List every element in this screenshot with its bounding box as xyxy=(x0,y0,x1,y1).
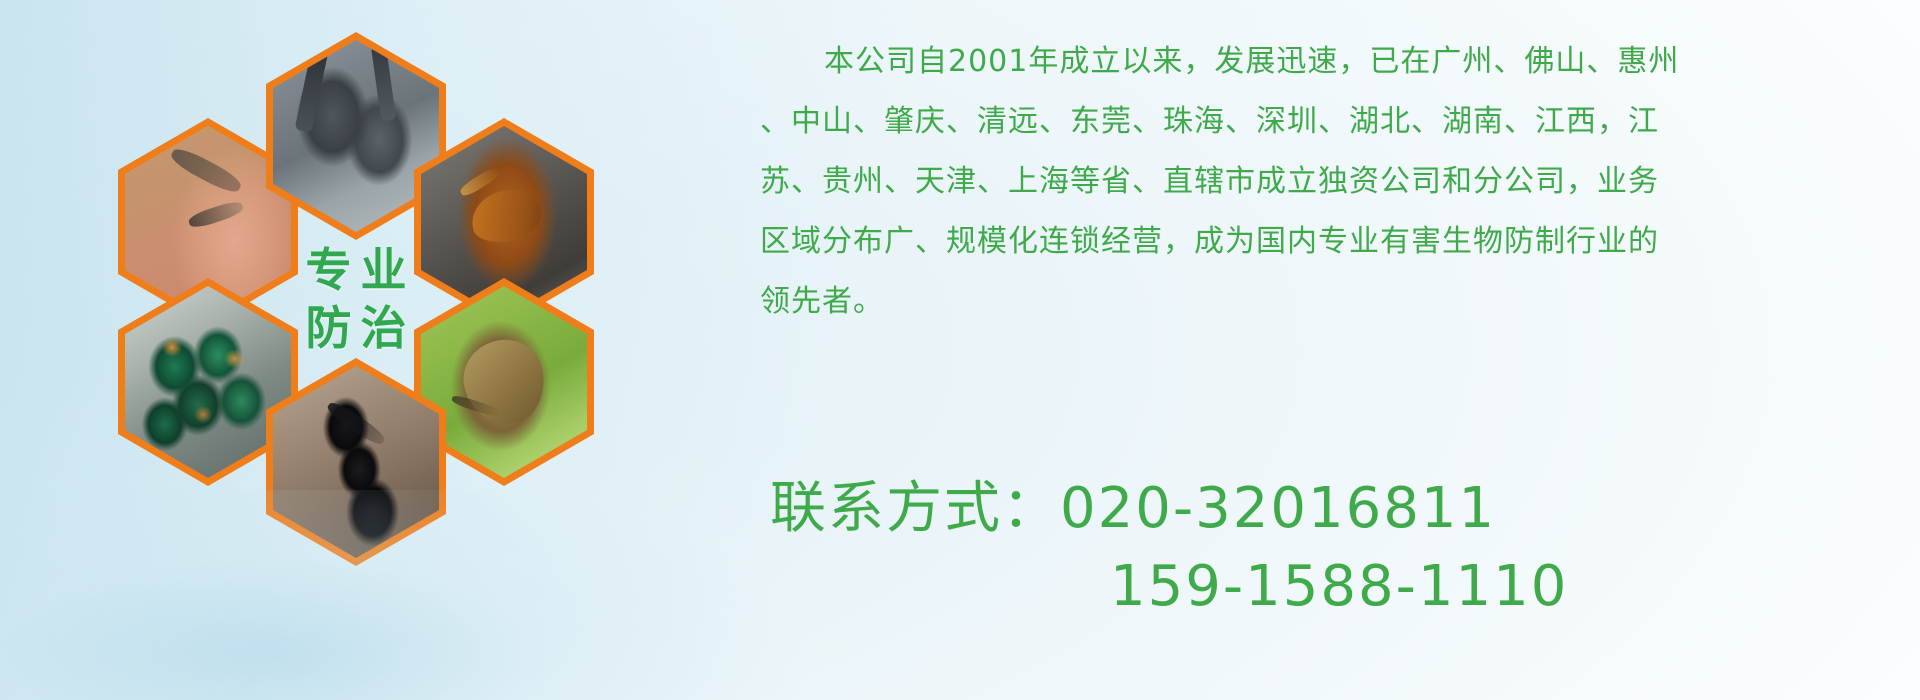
contact-phone-secondary[interactable]: 159-1588-1110 xyxy=(1110,554,1568,619)
contact-block: 联系方式：020-32016811 159-1588-1110 xyxy=(770,470,1920,626)
center-slogan-line1: 专业 xyxy=(297,246,416,294)
contact-secondary-line: 159-1588-1110 xyxy=(770,548,1920,626)
description-line-5: 领先者。 xyxy=(760,274,1900,330)
contact-phone-primary[interactable]: 020-32016811 xyxy=(1060,476,1496,541)
center-slogan-line2: 防治 xyxy=(297,304,416,352)
description-line-2: 、中山、肇庆、清远、东莞、珠海、深圳、湖北、湖南、江西，江 xyxy=(760,94,1900,150)
honeycomb-collage: 专业 防治 xyxy=(88,10,588,570)
description-line-4: 区域分布广、规模化连锁经营，成为国内专业有害生物防制行业的 xyxy=(760,214,1900,270)
description-line-3: 苏、贵州、天津、上海等省、直辖市成立独资公司和分公司，业务 xyxy=(760,154,1900,210)
company-description: 本公司自2001年成立以来，发展迅速，已在广州、佛山、惠州 、中山、肇庆、清远、… xyxy=(760,34,1900,334)
contact-primary-line: 联系方式：020-32016811 xyxy=(770,470,1920,548)
banner-root: 专业 防治 本公司自2001年成立以来，发展迅速，已在广州、佛山、惠州 、中山、… xyxy=(0,0,1920,700)
contact-label: 联系方式： xyxy=(770,476,1060,541)
description-line-1: 本公司自2001年成立以来，发展迅速，已在广州、佛山、惠州 xyxy=(760,34,1900,90)
